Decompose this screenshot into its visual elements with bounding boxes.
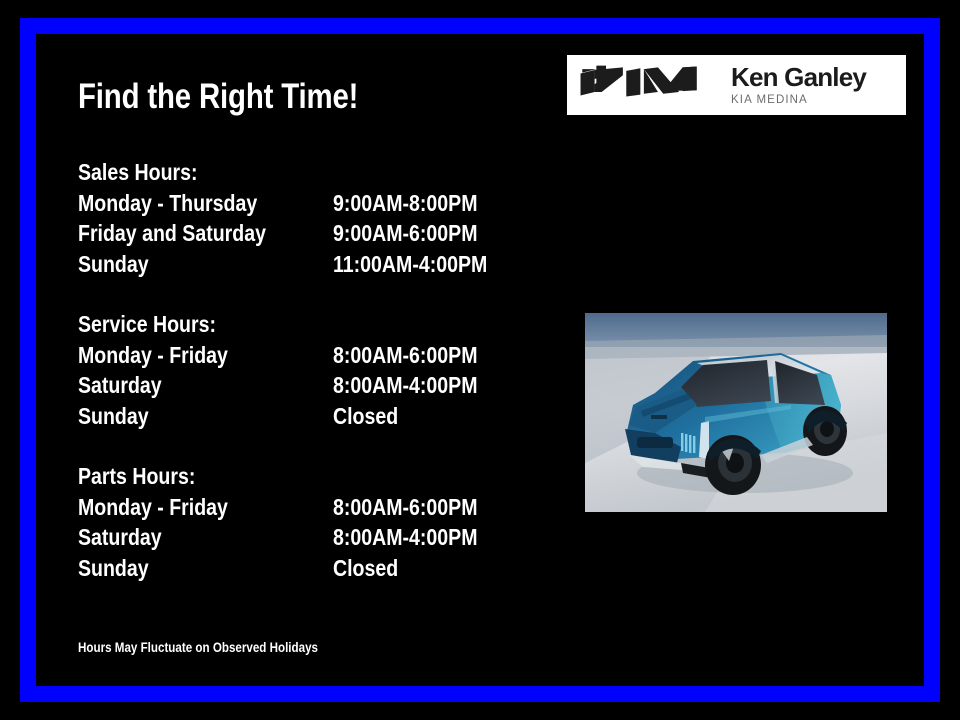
- hours-row: Saturday 8:00AM-4:00PM: [78, 370, 240, 401]
- day-label: Monday - Thursday: [78, 188, 257, 219]
- day-label: Friday and Saturday: [78, 218, 266, 249]
- kia-logo-mark: [577, 64, 709, 106]
- slide-canvas: Find the Right Time! Sales Hours: Monday…: [0, 0, 960, 720]
- sales-hours-heading: Sales Hours:: [78, 157, 198, 188]
- hours-row: Sunday Closed: [78, 401, 240, 432]
- day-label: Monday - Friday: [78, 492, 228, 523]
- day-label: Sunday: [78, 249, 149, 280]
- time-value: Closed: [333, 401, 398, 432]
- hours-row: Friday and Saturday 9:00AM-6:00PM: [78, 218, 219, 249]
- hours-row: Monday - Friday 8:00AM-6:00PM: [78, 340, 240, 371]
- day-label: Sunday: [78, 553, 149, 584]
- hours-row: Sunday 11:00AM-4:00PM: [78, 249, 219, 280]
- hours-row: Monday - Friday 8:00AM-6:00PM: [78, 492, 216, 523]
- page-title: Find the Right Time!: [78, 76, 358, 118]
- day-label: Saturday: [78, 522, 162, 553]
- hours-row: Sunday Closed: [78, 553, 216, 584]
- dealer-logo-box: Ken Ganley KIA MEDINA: [567, 55, 906, 115]
- vehicle-photo-illustration: [585, 313, 887, 512]
- service-hours-block: Service Hours: Monday - Friday 8:00AM-6:…: [78, 309, 240, 431]
- day-label: Monday - Friday: [78, 340, 228, 371]
- dealer-name: Ken Ganley: [731, 64, 866, 91]
- time-value: 8:00AM-4:00PM: [333, 370, 478, 401]
- time-value: 8:00AM-4:00PM: [333, 522, 478, 553]
- parts-hours-heading: Parts Hours:: [78, 461, 195, 492]
- time-value: 8:00AM-6:00PM: [333, 340, 478, 371]
- time-value: 9:00AM-6:00PM: [333, 218, 478, 249]
- hours-row: Saturday 8:00AM-4:00PM: [78, 522, 216, 553]
- sales-hours-block: Sales Hours: Monday - Thursday 9:00AM-8:…: [78, 157, 219, 279]
- day-label: Saturday: [78, 370, 162, 401]
- parts-hours-block: Parts Hours: Monday - Friday 8:00AM-6:00…: [78, 461, 216, 583]
- time-value: 11:00AM-4:00PM: [333, 249, 487, 280]
- time-value: Closed: [333, 553, 398, 584]
- holiday-disclaimer: Hours May Fluctuate on Observed Holidays: [78, 640, 318, 655]
- time-value: 9:00AM-8:00PM: [333, 188, 478, 219]
- service-hours-heading: Service Hours:: [78, 309, 216, 340]
- day-label: Sunday: [78, 401, 149, 432]
- dealer-logo-text: Ken Ganley KIA MEDINA: [731, 64, 866, 107]
- hours-row: Monday - Thursday 9:00AM-8:00PM: [78, 188, 219, 219]
- time-value: 8:00AM-6:00PM: [333, 492, 478, 523]
- vehicle-photo: [585, 313, 887, 512]
- dealer-subtitle: KIA MEDINA: [731, 93, 866, 107]
